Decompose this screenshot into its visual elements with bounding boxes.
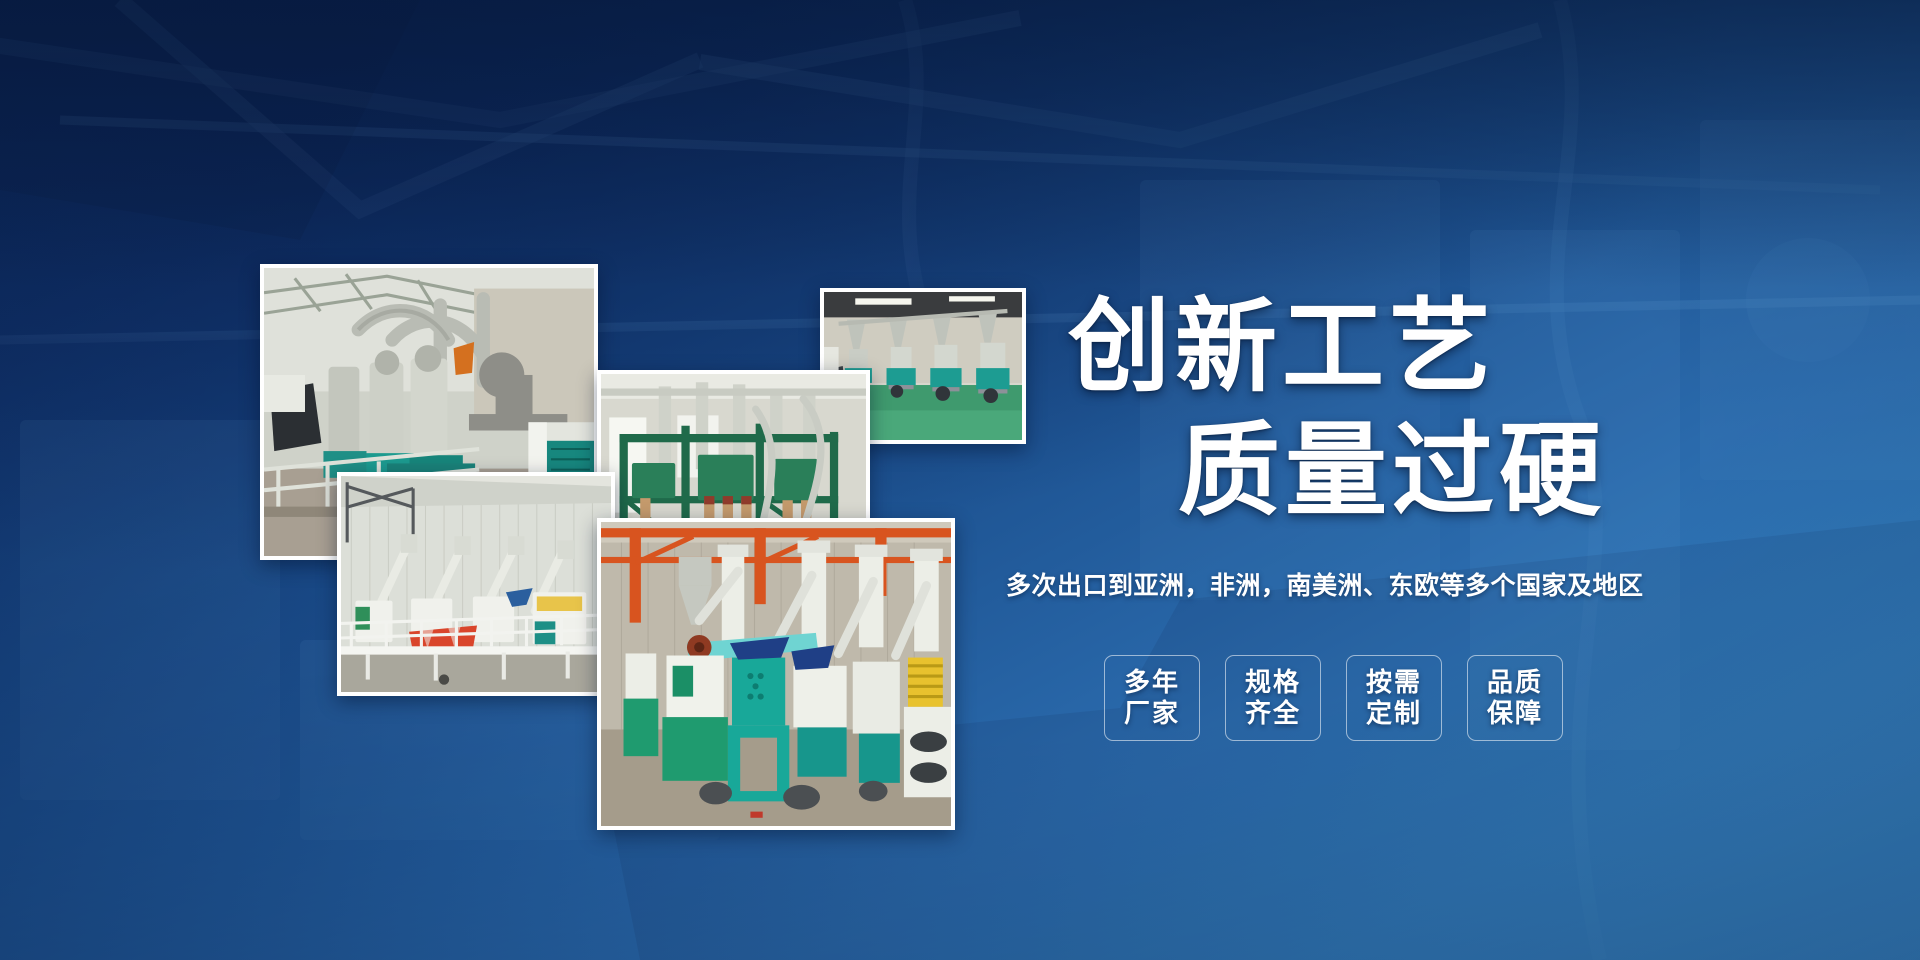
feature-badge-custom[interactable]: 按需 定制 — [1346, 655, 1442, 741]
badge-line-2: 保障 — [1487, 698, 1543, 729]
headline-line-2: 质量过硬 — [1178, 420, 1606, 522]
badge-line-1: 多年 — [1124, 667, 1180, 698]
photo-green-mill-workshop — [597, 518, 955, 830]
badge-line-1: 品质 — [1487, 667, 1543, 698]
badge-line-2: 齐全 — [1245, 698, 1301, 729]
photo-white-red-cleaning-line — [337, 472, 615, 696]
badge-line-1: 按需 — [1366, 667, 1422, 698]
badge-line-2: 定制 — [1366, 698, 1422, 729]
badge-line-2: 厂家 — [1124, 698, 1180, 729]
badge-line-1: 规格 — [1245, 667, 1301, 698]
feature-badge-specs[interactable]: 规格 齐全 — [1225, 655, 1321, 741]
feature-badge-list: 多年 厂家 规格 齐全 按需 定制 品质 保障 — [1104, 655, 1563, 741]
feature-badge-quality[interactable]: 品质 保障 — [1467, 655, 1563, 741]
headline-line-1: 创新工艺 — [1068, 296, 1496, 398]
subtitle-text: 多次出口到亚洲，非洲，南美洲、东欧等多个国家及地区 — [1006, 566, 1644, 602]
promo-banner: 创新工艺 质量过硬 多次出口到亚洲，非洲，南美洲、东欧等多个国家及地区 多年 厂… — [0, 0, 1920, 960]
feature-badge-years[interactable]: 多年 厂家 — [1104, 655, 1200, 741]
